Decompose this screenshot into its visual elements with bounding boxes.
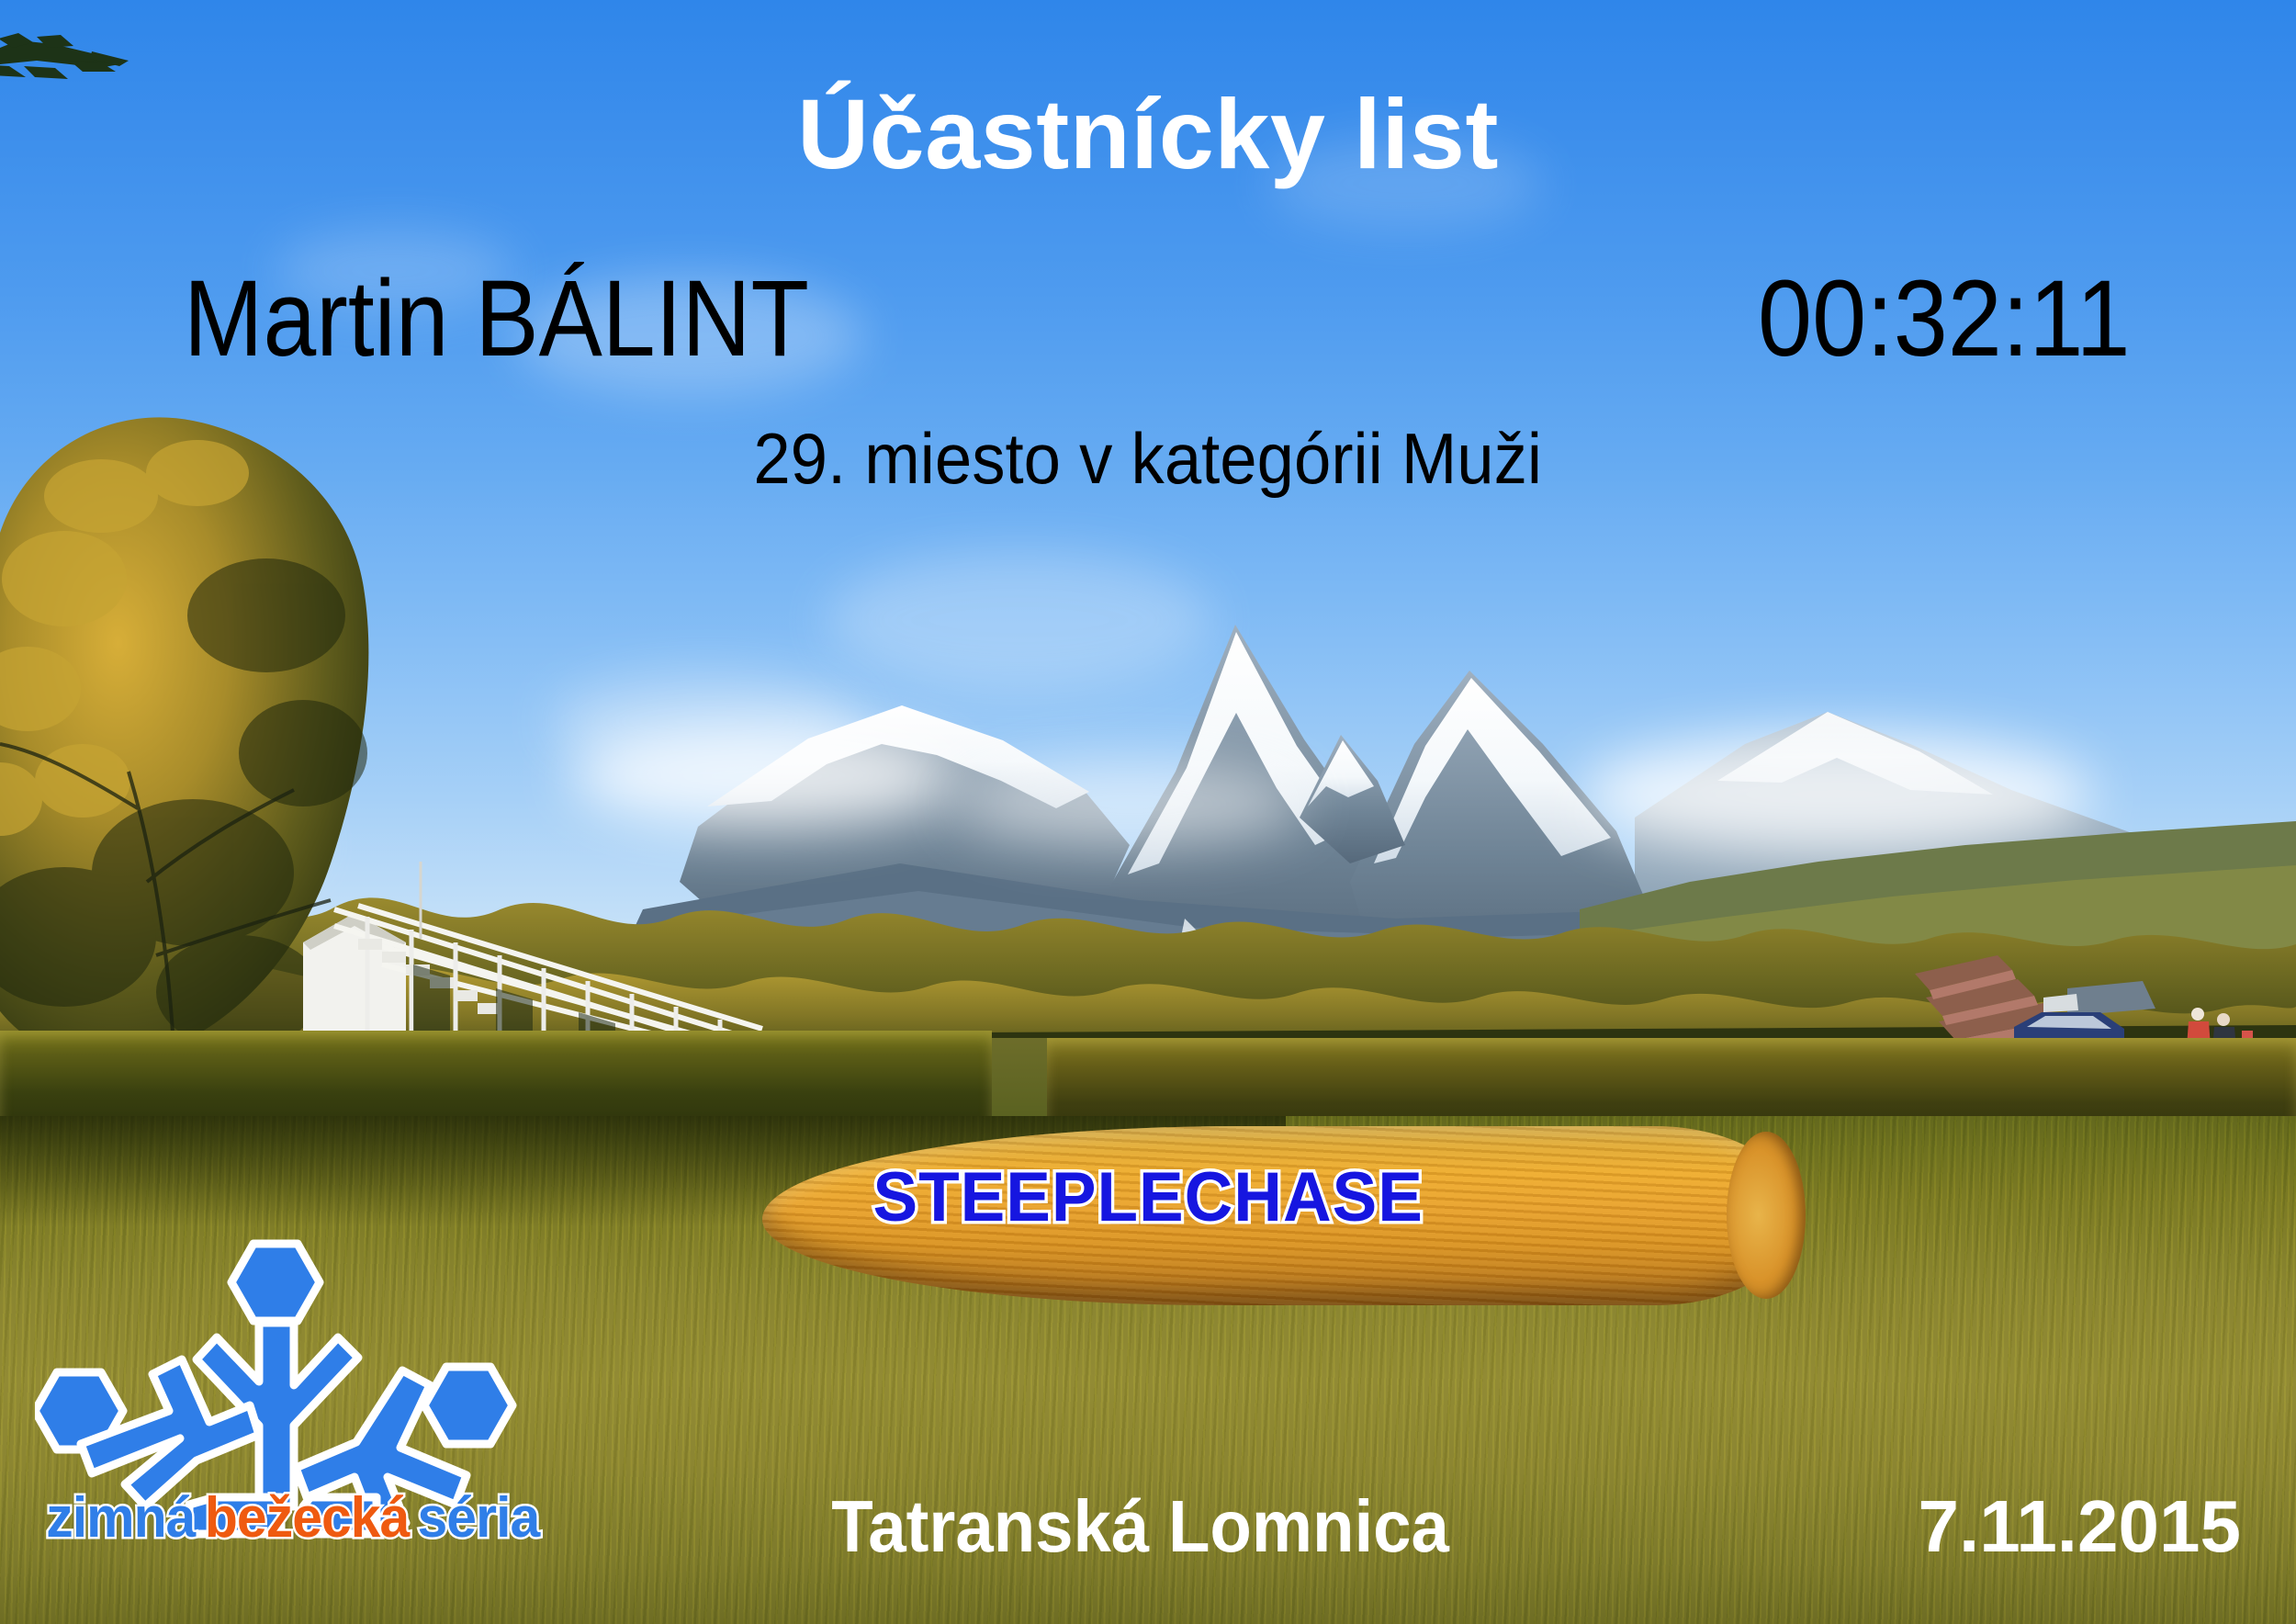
event-date: 7.11.2015 xyxy=(1919,1490,2241,1563)
logo-word-bezecka: bežecká xyxy=(205,1490,410,1547)
event-location-text: Tatranská Lomnica xyxy=(831,1490,1449,1563)
logo-word-seria: séria xyxy=(417,1490,539,1547)
rank-line-text: 29. miesto v kategórii Muži xyxy=(754,423,1543,494)
finish-time: 00:32:11 xyxy=(1758,265,2131,373)
rank-line: 29. miesto v kategórii Muži xyxy=(0,423,2296,494)
obstacle-label: STEEPLECHASE xyxy=(0,1163,2296,1233)
logo-word-zimna: zimná xyxy=(46,1490,195,1547)
mist-band xyxy=(569,726,955,827)
event-location: Tatranská Lomnica xyxy=(808,1490,1472,1563)
participant-name: Martin BÁLINT xyxy=(184,265,809,373)
page-title: Účastnícky list xyxy=(0,85,2296,184)
mist-band xyxy=(955,762,1304,845)
logo-wordmark: zimnábežeckáséria xyxy=(42,1490,543,1547)
obstacle-label-text: STEEPLECHASE xyxy=(872,1163,1423,1233)
participant-certificate: Účastnícky list Martin BÁLINT 00:32:11 2… xyxy=(0,0,2296,1624)
